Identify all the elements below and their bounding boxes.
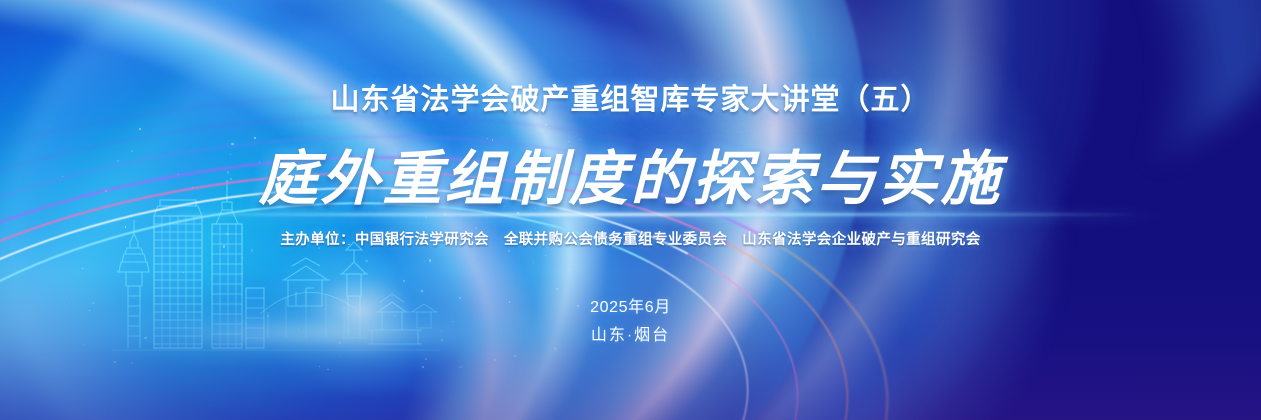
- event-banner: 山东省法学会破产重组智库专家大讲堂（五） 庭外重组制度的探索与实施 主办单位：中…: [0, 0, 1261, 420]
- organizers-line: 主办单位：中国银行法学研究会 全联并购公会债务重组专业委员会 山东省法学会企业破…: [0, 228, 1261, 249]
- main-headline: 庭外重组制度的探索与实施: [0, 131, 1261, 216]
- event-date: 2025年6月: [0, 293, 1261, 317]
- series-title: 山东省法学会破产重组智库专家大讲堂（五）: [0, 76, 1261, 118]
- banner-content: 山东省法学会破产重组智库专家大讲堂（五） 庭外重组制度的探索与实施 主办单位：中…: [0, 0, 1261, 420]
- event-location: 山东·烟台: [0, 321, 1261, 345]
